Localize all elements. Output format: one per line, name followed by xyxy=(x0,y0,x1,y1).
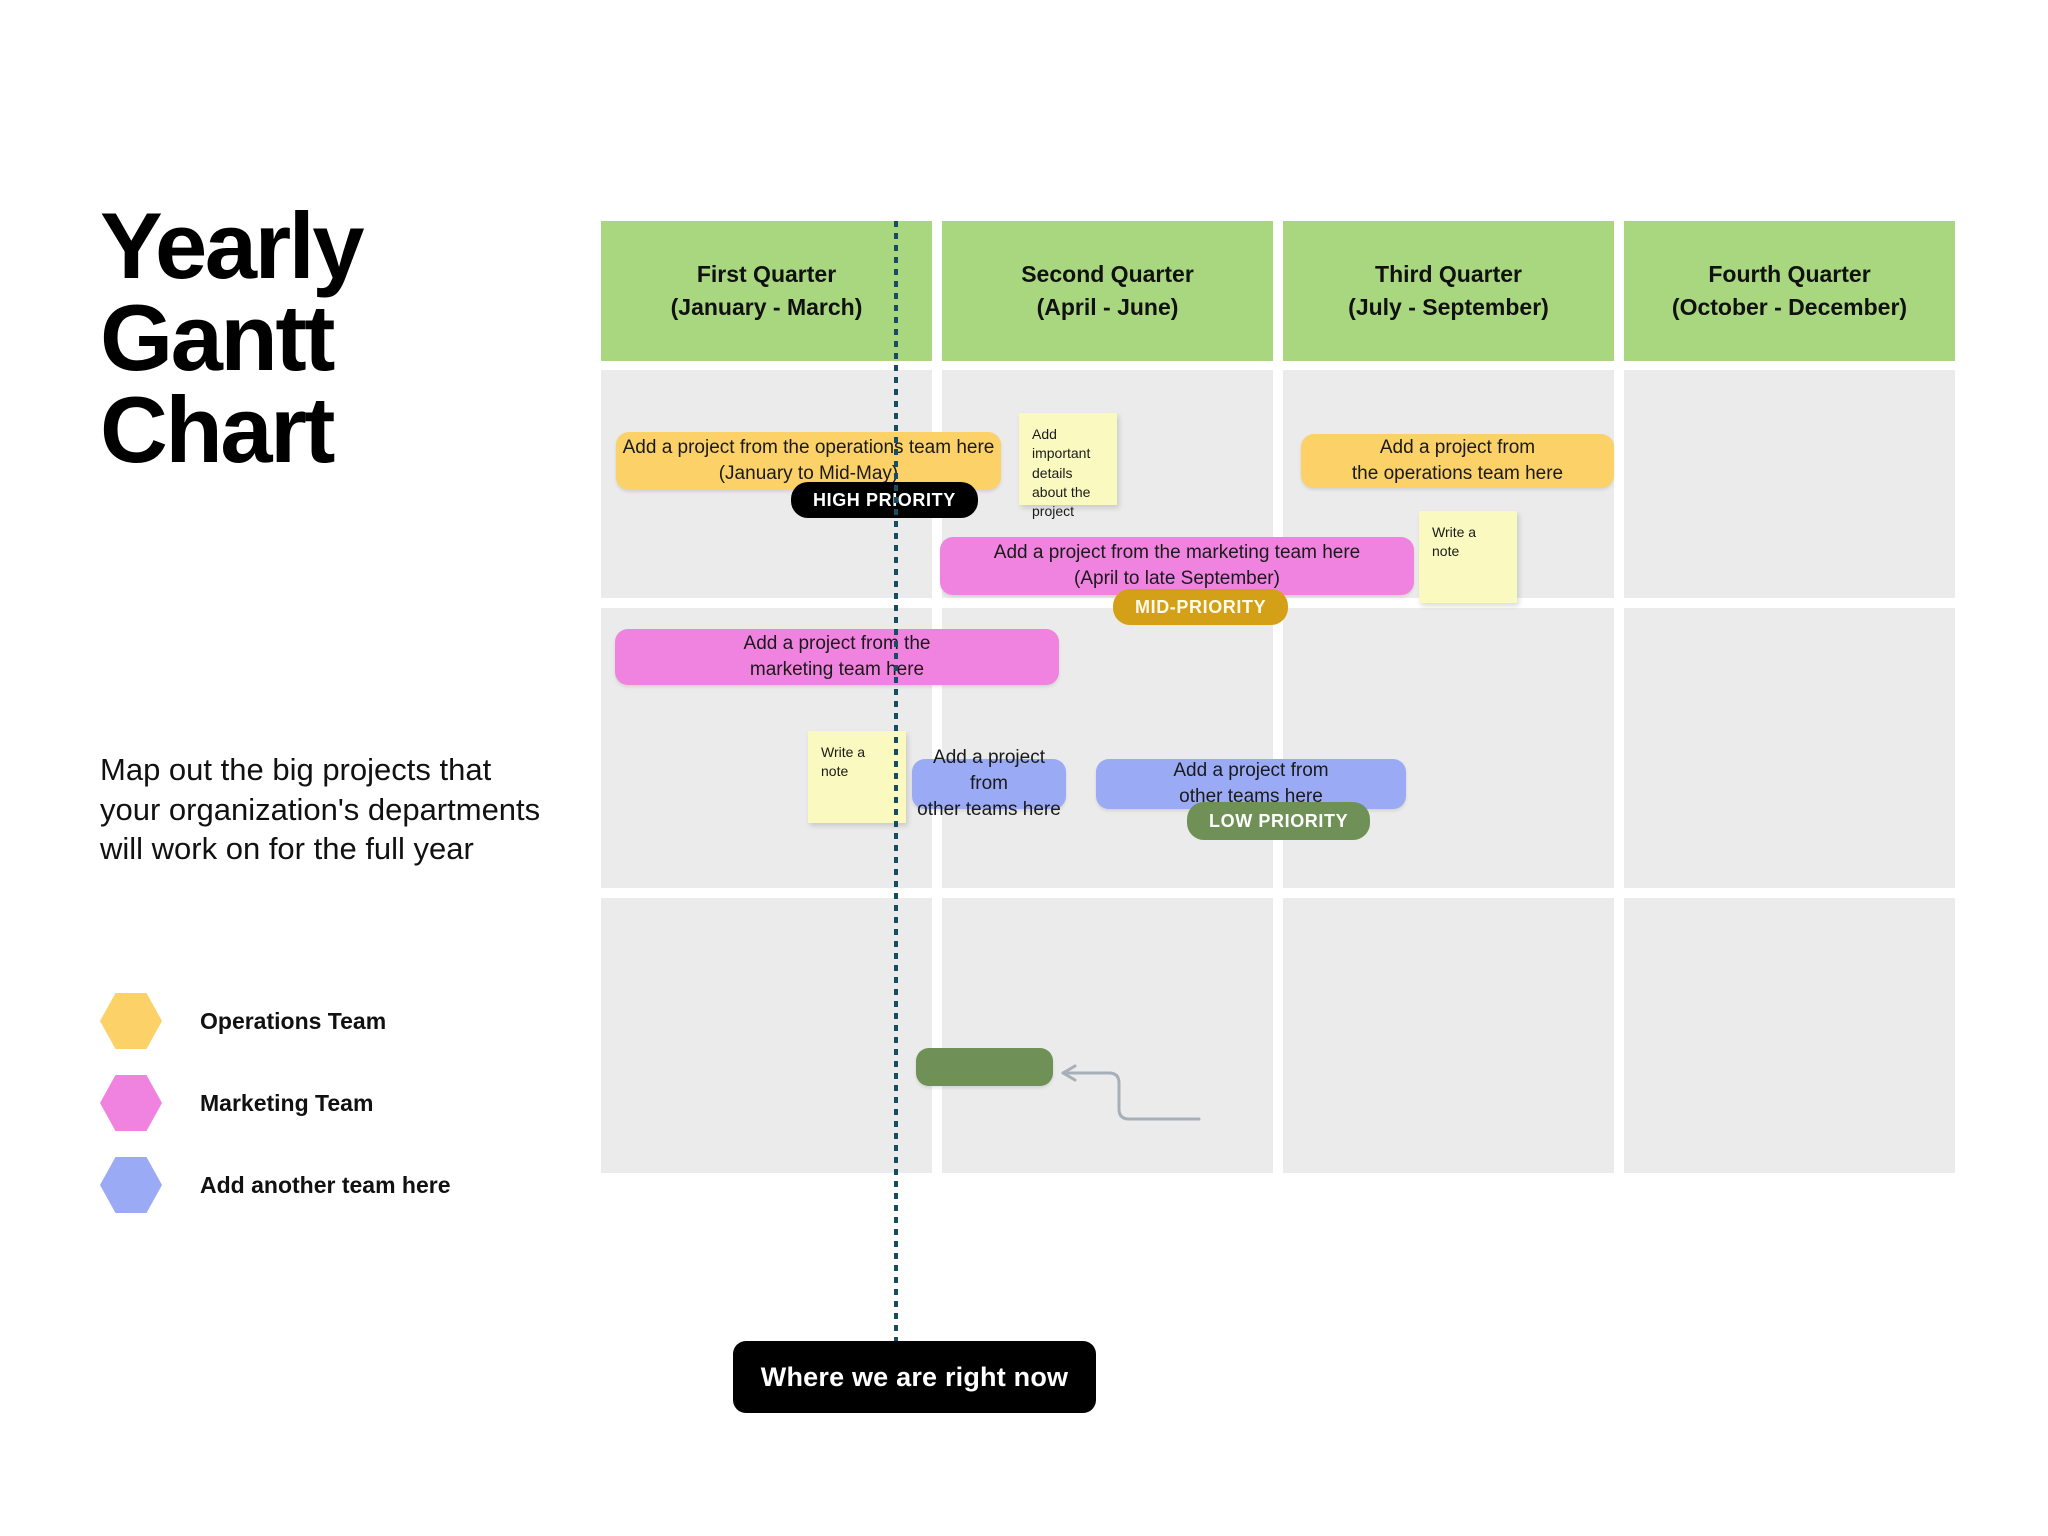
hexagon-icon xyxy=(100,1157,162,1213)
page-title: Yearly Gantt Chart xyxy=(100,200,480,476)
note-line1: Add important details xyxy=(1032,425,1104,483)
team-legend: Operations Team Marketing Team Add anoth… xyxy=(100,990,451,1236)
legend-item-marketing-team[interactable]: Marketing Team xyxy=(100,1072,451,1134)
sticky-note-row3[interactable]: Write a note xyxy=(808,731,906,823)
legend-label: Operations Team xyxy=(200,1008,386,1035)
task-bar-dependency-target[interactable] xyxy=(916,1048,1053,1086)
legend-item-other-team[interactable]: Add another team here xyxy=(100,1154,451,1216)
hexagon-icon xyxy=(100,993,162,1049)
today-marker-line xyxy=(894,221,898,1341)
task-overlay: Add a project from the operations team h… xyxy=(601,221,1955,1281)
legend-label: Add another team here xyxy=(200,1172,451,1199)
legend-item-operations-team[interactable]: Operations Team xyxy=(100,990,451,1052)
task-label-line1: Add a project from xyxy=(912,745,1066,797)
task-bar-other-q2-q3[interactable]: Add a project from other teams here xyxy=(912,759,1066,809)
note-line2: about the project xyxy=(1032,483,1104,522)
status-badge-high-priority[interactable]: HIGH PRIORITY xyxy=(791,482,978,518)
note-line1: Write a note xyxy=(1432,523,1504,562)
task-label-line1: Add a project from the marketing team he… xyxy=(994,540,1360,566)
dependency-connector xyxy=(601,221,1955,1281)
task-label-line2: other teams here xyxy=(912,797,1066,823)
note-line1: Write a note xyxy=(821,743,893,782)
task-label-line2: marketing team here xyxy=(744,657,931,683)
legend-label: Marketing Team xyxy=(200,1090,373,1117)
left-info-panel: Yearly Gantt Chart Map out the big proje… xyxy=(100,200,570,476)
gantt-grid: First Quarter (January - March) Second Q… xyxy=(601,221,1955,1183)
task-label-line1: Add a project from the xyxy=(744,631,931,657)
task-bar-marketing-q2-q3[interactable]: Add a project from the marketing team he… xyxy=(940,537,1414,595)
gantt-chart-page: Yearly Gantt Chart Map out the big proje… xyxy=(0,0,2048,1536)
sticky-note-row2[interactable]: Write a note xyxy=(1419,511,1517,603)
page-subtitle: Map out the big projects that your organ… xyxy=(100,750,550,869)
hexagon-icon xyxy=(100,1075,162,1131)
task-label-line2: the operations team here xyxy=(1352,461,1563,487)
status-badge-mid-priority[interactable]: MID-PRIORITY xyxy=(1113,589,1288,625)
today-marker-badge[interactable]: Where we are right now xyxy=(733,1341,1096,1413)
status-badge-low-priority[interactable]: LOW PRIORITY xyxy=(1187,802,1370,840)
task-label-line1: Add a project from xyxy=(1352,435,1563,461)
task-label-line1: Add a project from xyxy=(1173,758,1328,784)
task-bar-marketing-q1-q2[interactable]: Add a project from the marketing team he… xyxy=(615,629,1059,685)
task-bar-operations-q3[interactable]: Add a project from the operations team h… xyxy=(1301,434,1614,488)
task-label-line1: Add a project from the operations team h… xyxy=(623,435,995,461)
sticky-note-project-details[interactable]: Add important details about the project xyxy=(1019,413,1117,505)
